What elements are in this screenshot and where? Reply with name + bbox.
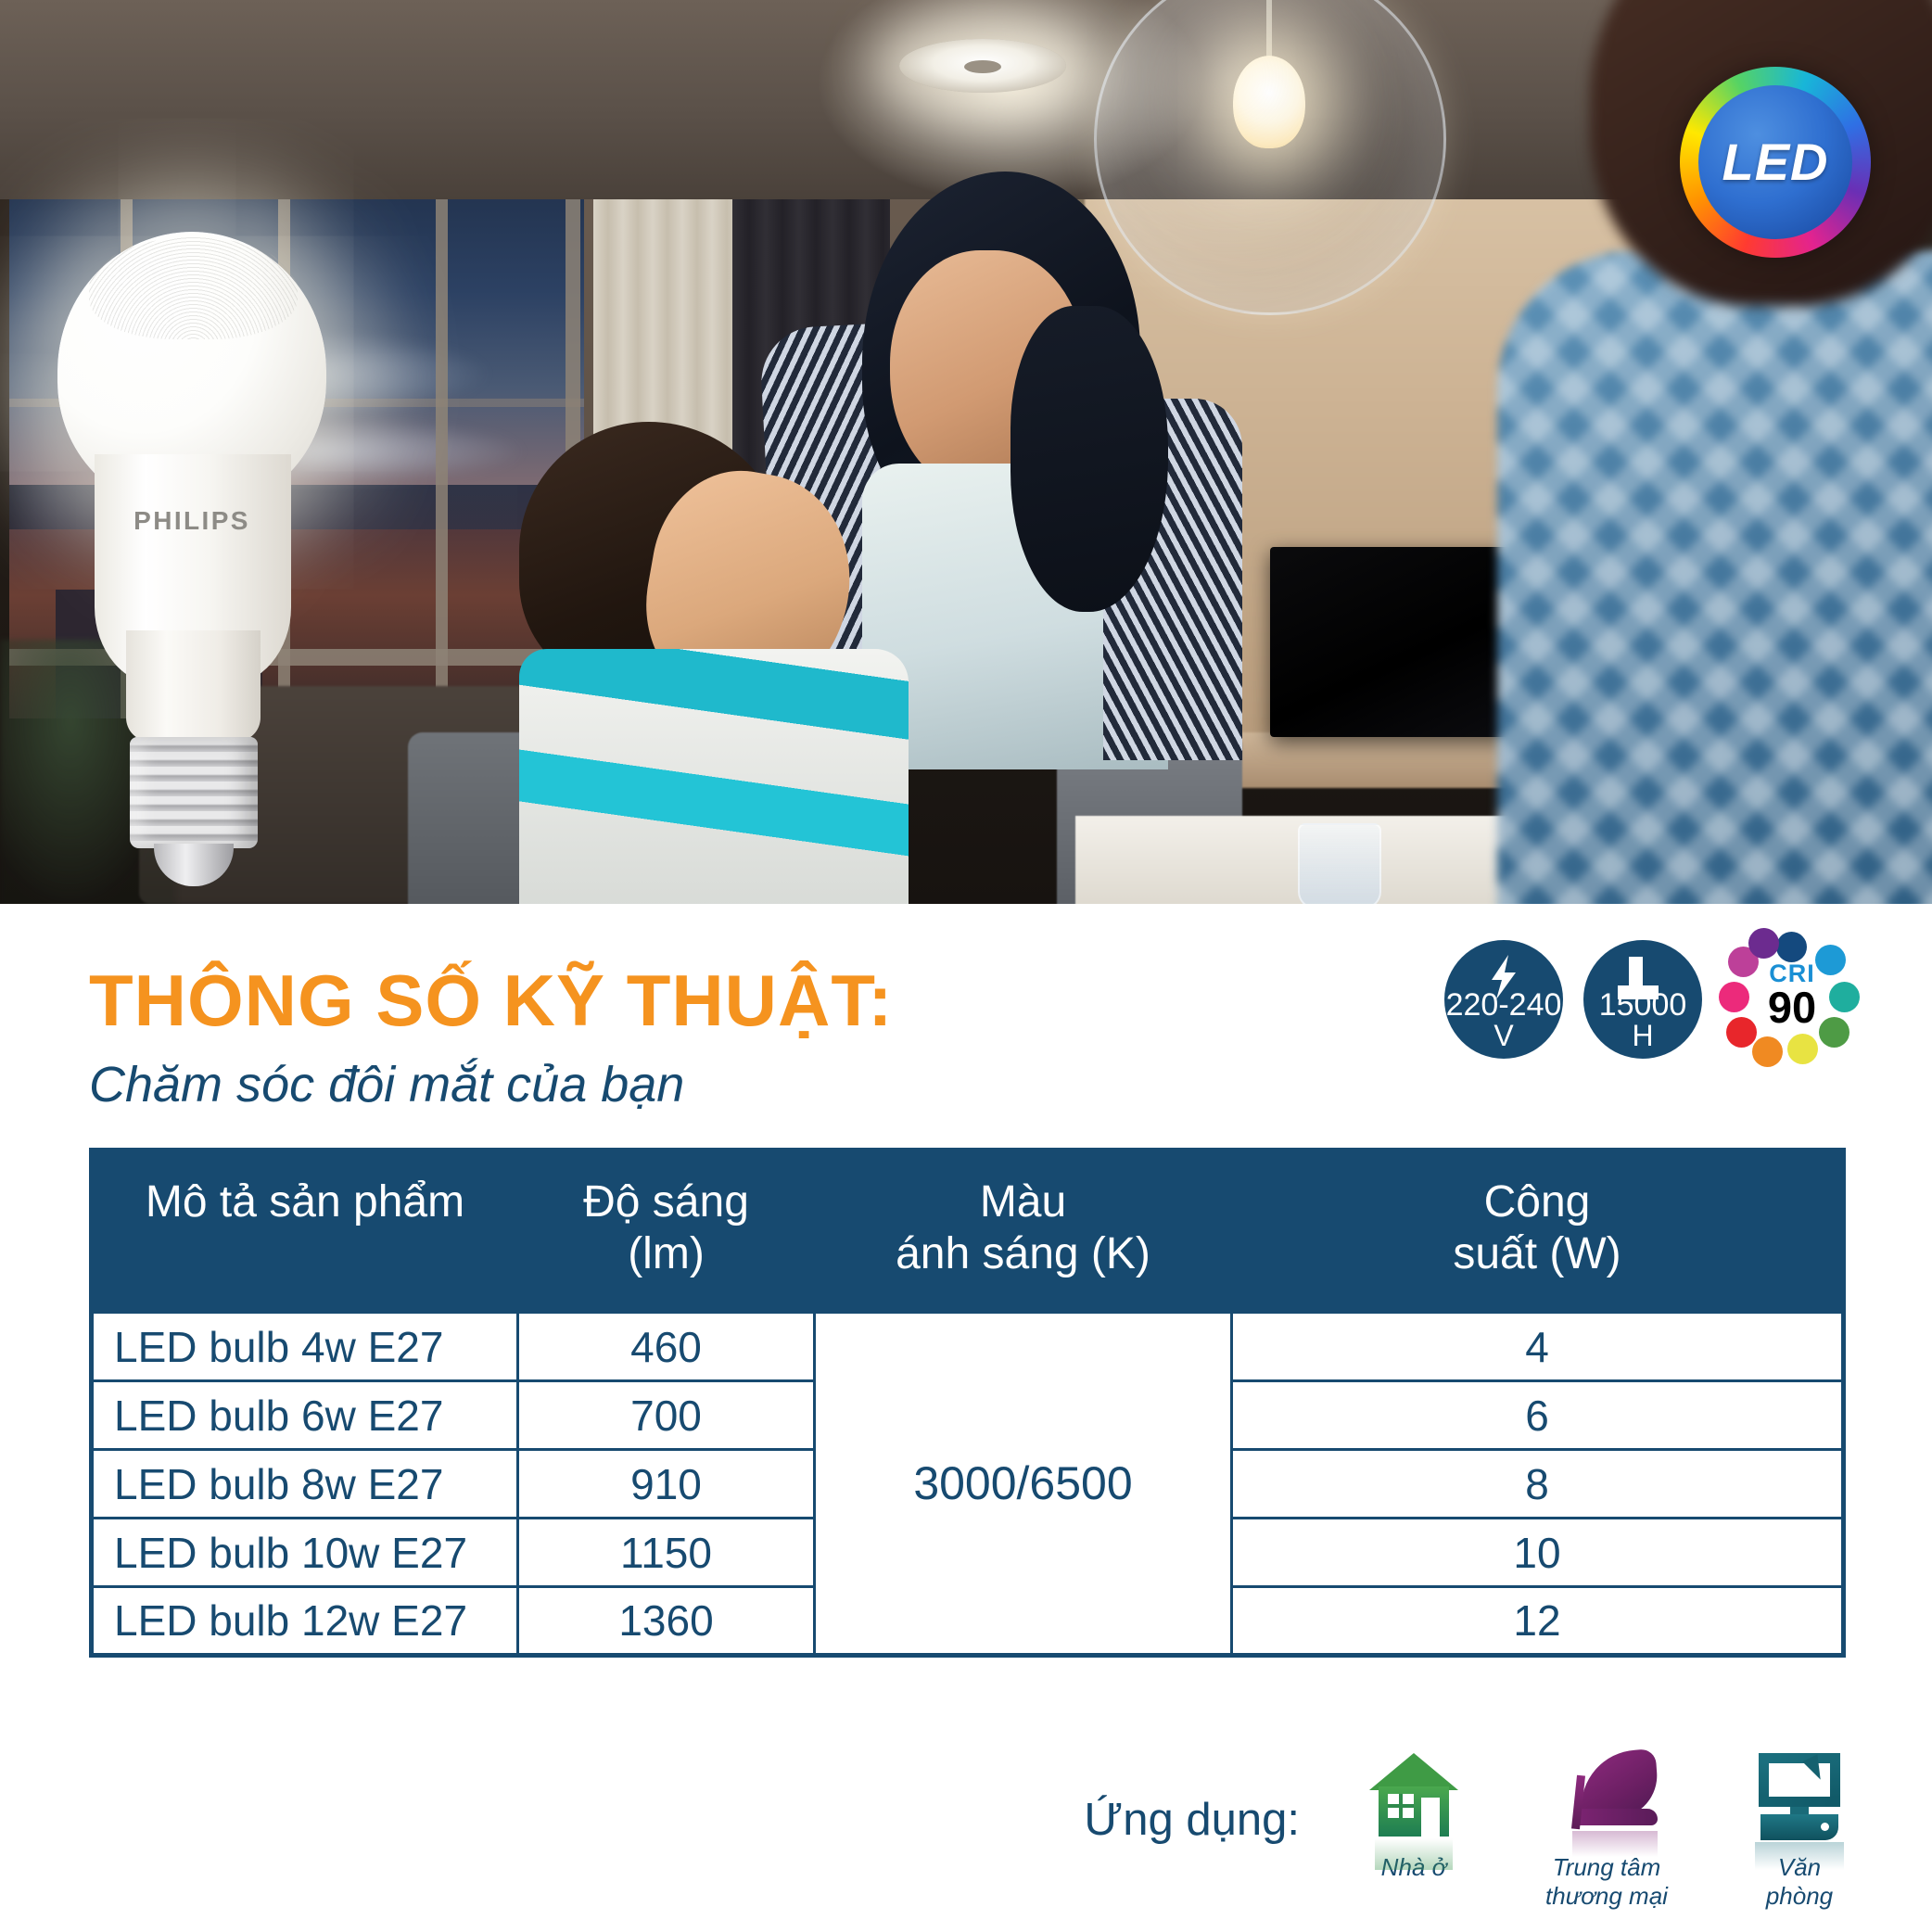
man-checkered-shirt xyxy=(1497,250,1932,904)
page-subtitle: Chăm sóc đôi mắt của bạn xyxy=(89,1060,684,1110)
application-caption: Trung tâm thương mại xyxy=(1528,1853,1685,1912)
color-wheel-dot xyxy=(1787,1034,1818,1064)
cell-description: LED bulb 4w E27 xyxy=(92,1313,518,1381)
caption-line2: phòng xyxy=(1721,1882,1878,1912)
led-badge: LED xyxy=(1680,67,1871,258)
cell-description: LED bulb 10w E27 xyxy=(92,1519,518,1587)
philips-led-bulb: PHILIPS xyxy=(57,232,345,881)
cell-lumens: 910 xyxy=(518,1450,815,1519)
color-wheel-dot xyxy=(1748,928,1779,959)
page-title: THÔNG SỐ KỸ THUẬT: xyxy=(89,964,893,1036)
color-wheel-dot xyxy=(1776,932,1807,962)
drinking-glass xyxy=(1298,823,1381,904)
cell-lumens: 700 xyxy=(518,1381,815,1450)
col-header-line2: ánh sáng (K) xyxy=(823,1228,1223,1280)
col-header-description: Mô tả sản phẩm xyxy=(92,1150,518,1313)
e27-screw-base xyxy=(130,737,258,848)
window-frame xyxy=(436,162,448,718)
specifications-table: Mô tả sản phẩm Độ sáng (lm) Màu ánh sáng… xyxy=(89,1148,1846,1658)
col-header-line2: suất (W) xyxy=(1240,1228,1834,1280)
cell-wattage: 6 xyxy=(1232,1381,1844,1450)
table-row: LED bulb 4w E27 460 3000/6500 4 xyxy=(92,1313,1844,1381)
voltage-unit: V xyxy=(1493,1021,1513,1051)
cri-badge: CRI 90 xyxy=(1722,932,1862,1067)
monitor-icon xyxy=(1721,1749,1878,1849)
specifications-section: THÔNG SỐ KỸ THUẬT: Chăm sóc đôi mắt của … xyxy=(0,904,1932,1932)
cell-lumens: 460 xyxy=(518,1313,815,1381)
lightning-bolt-icon xyxy=(1486,955,1521,999)
led-badge-inner: LED xyxy=(1698,85,1852,239)
voltage-badge: 220-240 V xyxy=(1444,940,1563,1059)
cell-description: LED bulb 8w E27 xyxy=(92,1450,518,1519)
col-header-lumens: Độ sáng (lm) xyxy=(518,1150,815,1313)
applications-row: Ứng dụng: Nhà ở xyxy=(1084,1749,1878,1912)
col-header-line1: Độ sáng xyxy=(527,1176,806,1228)
ceiling-light-fixture xyxy=(899,39,1066,93)
cell-lumens: 1360 xyxy=(518,1587,815,1656)
boy-striped-shirt xyxy=(519,649,909,904)
hero-photo: PHILIPS LED xyxy=(0,0,1932,904)
cell-description: LED bulb 12w E27 xyxy=(92,1587,518,1656)
cell-wattage: 12 xyxy=(1232,1587,1844,1656)
mother-hair xyxy=(1010,306,1168,612)
cri-value: 90 xyxy=(1722,985,1862,1029)
col-header-wattage: Công suất (W) xyxy=(1232,1150,1844,1313)
house-icon xyxy=(1335,1749,1493,1849)
col-header-color-temp: Màu ánh sáng (K) xyxy=(815,1150,1232,1313)
led-badge-label: LED xyxy=(1722,136,1829,188)
cell-wattage: 8 xyxy=(1232,1450,1844,1519)
philips-wordmark: PHILIPS xyxy=(57,506,326,536)
cell-description: LED bulb 6w E27 xyxy=(92,1381,518,1450)
cell-wattage: 4 xyxy=(1232,1313,1844,1381)
poster-page: PHILIPS LED THÔNG SỐ KỸ THUẬT: Chăm sóc … xyxy=(0,0,1932,1932)
lifetime-badge: 15000 H xyxy=(1583,940,1702,1059)
col-header-line2: (lm) xyxy=(527,1228,806,1280)
bulb-base-tip xyxy=(154,844,234,886)
cell-color-temperature: 3000/6500 xyxy=(815,1313,1232,1656)
bulb-diffuser-texture xyxy=(89,237,298,339)
applications-label: Ứng dụng: xyxy=(1084,1794,1300,1846)
col-header-line1: Màu xyxy=(823,1176,1223,1228)
high-heel-icon xyxy=(1528,1749,1685,1849)
lifetime-unit: H xyxy=(1632,1021,1653,1051)
clock-icon xyxy=(1618,957,1668,1001)
col-header-line1: Công xyxy=(1240,1176,1834,1228)
application-residential: Nhà ở xyxy=(1335,1749,1493,1883)
table-header-row: Mô tả sản phẩm Độ sáng (lm) Màu ánh sáng… xyxy=(92,1150,1844,1313)
bulb-taper xyxy=(126,630,261,742)
spec-badges: 220-240 V 15000 H C xyxy=(1444,932,1862,1067)
cell-wattage: 10 xyxy=(1232,1519,1844,1587)
caption-line1: Trung tâm xyxy=(1528,1853,1685,1883)
col-header-line1: Mô tả sản phẩm xyxy=(101,1176,509,1228)
caption-line2: thương mại xyxy=(1528,1882,1685,1912)
cell-lumens: 1150 xyxy=(518,1519,815,1587)
application-office: Văn phòng xyxy=(1721,1749,1878,1912)
color-wheel-dot xyxy=(1752,1036,1783,1067)
application-retail: Trung tâm thương mại xyxy=(1528,1749,1685,1912)
